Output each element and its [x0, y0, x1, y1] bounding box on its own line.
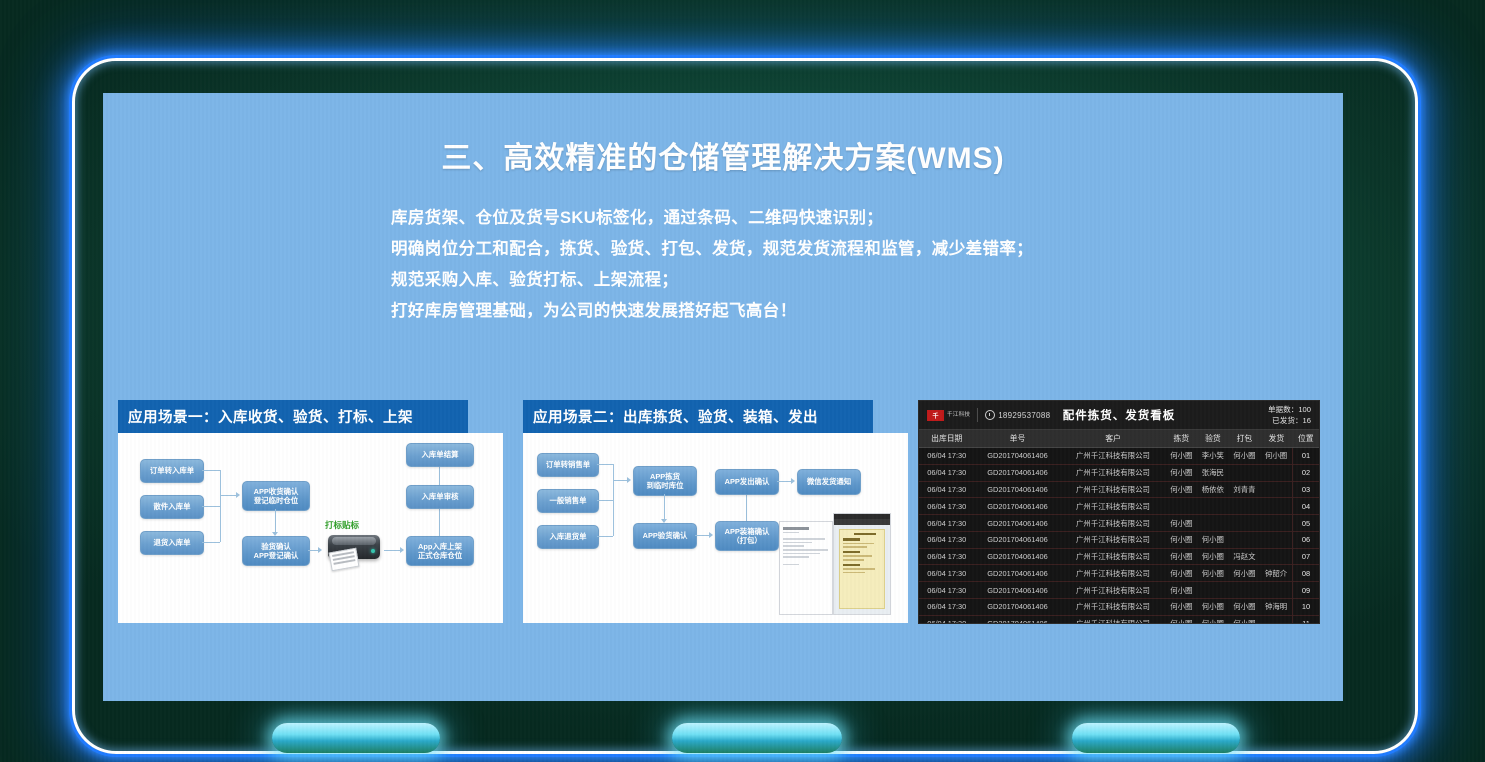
table-cell-date: 06/04 17:30	[919, 582, 975, 599]
table-cell-verify	[1197, 582, 1229, 599]
phone-screenshot-order	[833, 513, 891, 615]
table-cell-verify	[1197, 498, 1229, 515]
table-column-header: 位置	[1293, 430, 1320, 448]
table-cell-customer: 广州千江科技有限公司	[1060, 548, 1165, 565]
table-row[interactable]: 06/04 17:30GD201704061406广州千江科技有限公司何小圈杨依…	[919, 481, 1319, 498]
table-cell-order: GD201704061406	[975, 615, 1061, 624]
table-cell-pack: 何小圈	[1229, 565, 1261, 582]
flow-node-app-shelve: App入库上架 正式仓库仓位	[406, 536, 474, 566]
bullet-line-2: 明确岗位分工和配合，拣货、验货、打包、发货，规范发货流程和监管，减少差错率；	[391, 234, 1271, 265]
table-column-header: 发货	[1260, 430, 1292, 448]
table-cell-pick: 何小圈	[1166, 615, 1198, 624]
table-cell-pack: 何小圈	[1229, 599, 1261, 616]
flow-node-return-inbound: 退货入库单	[140, 531, 204, 555]
table-cell-pos: 06	[1293, 531, 1320, 548]
table-header-row: 出库日期单号客户拣货验货打包发货位置	[919, 430, 1319, 448]
table-cell-order: GD201704061406	[975, 498, 1061, 515]
table-cell-order: GD201704061406	[975, 481, 1061, 498]
flow-node-app-ship: APP发出确认	[715, 469, 779, 495]
bullet-line-4: 打好库房管理基础，为公司的快速发展搭好起飞高台！	[391, 296, 1271, 327]
table-cell-pos: 10	[1293, 599, 1320, 616]
table-cell-ship	[1260, 481, 1292, 498]
flow-node-loose-inbound: 散件入库单	[140, 495, 204, 519]
table-cell-date: 06/04 17:30	[919, 515, 975, 532]
table-row[interactable]: 06/04 17:30GD201704061406广州千江科技有限公司何小圈何小…	[919, 615, 1319, 624]
table-cell-verify: 李小笑	[1197, 448, 1229, 465]
table-cell-pick: 何小圈	[1166, 582, 1198, 599]
table-column-header: 验货	[1197, 430, 1229, 448]
table-cell-ship: 钟海明	[1260, 599, 1292, 616]
dashboard-header: 千 千江科技 18929537088 配件拣货、发货看板 单据数：100 已发货…	[919, 401, 1319, 430]
table-cell-date: 06/04 17:30	[919, 565, 975, 582]
table-column-header: 打包	[1229, 430, 1261, 448]
table-cell-ship	[1260, 531, 1292, 548]
table-cell-pick: 何小圈	[1166, 515, 1198, 532]
table-cell-ship	[1260, 582, 1292, 599]
table-cell-pack	[1229, 531, 1261, 548]
table-cell-pack	[1229, 582, 1261, 599]
table-cell-pick: 何小圈	[1166, 448, 1198, 465]
panel1-header: 应用场景一：入库收货、验货、打标、上架	[118, 400, 468, 433]
panel2-header: 应用场景二：出库拣货、验货、装箱、发出	[523, 400, 873, 433]
table-cell-pack: 冯赵文	[1229, 548, 1261, 565]
table-cell-pos: 01	[1293, 448, 1320, 465]
flow-node-verify-confirm: 验货确认 APP登记确认	[242, 536, 310, 566]
table-cell-order: GD201704061406	[975, 515, 1061, 532]
flow-node-app-pick: APP拣货 到临时库位	[633, 466, 697, 496]
table-column-header: 出库日期	[919, 430, 975, 448]
table-cell-pack: 刘青青	[1229, 481, 1261, 498]
table-cell-customer: 广州千江科技有限公司	[1060, 515, 1165, 532]
table-cell-customer: 广州千江科技有限公司	[1060, 565, 1165, 582]
table-row[interactable]: 06/04 17:30GD201704061406广州千江科技有限公司何小圈05	[919, 515, 1319, 532]
table-cell-pack: 何小圈	[1229, 615, 1261, 624]
table-cell-pick: 何小圈	[1166, 548, 1198, 565]
table-cell-verify: 何小圈	[1197, 565, 1229, 582]
table-row[interactable]: 06/04 17:30GD201704061406广州千江科技有限公司何小圈何小…	[919, 599, 1319, 616]
bullet-line-3: 规范采购入库、验货打标、上架流程；	[391, 265, 1271, 296]
table-cell-date: 06/04 17:30	[919, 599, 975, 616]
table-cell-pick: 何小圈	[1166, 565, 1198, 582]
table-cell-customer: 广州千江科技有限公司	[1060, 599, 1165, 616]
table-row[interactable]: 06/04 17:30GD201704061406广州千江科技有限公司何小圈何小…	[919, 531, 1319, 548]
table-cell-date: 06/04 17:30	[919, 548, 975, 565]
table-cell-ship	[1260, 615, 1292, 624]
table-cell-order: GD201704061406	[975, 531, 1061, 548]
table-column-header: 拣货	[1166, 430, 1198, 448]
table-cell-ship	[1260, 464, 1292, 481]
table-column-header: 客户	[1060, 430, 1165, 448]
table-cell-pack: 何小圈	[1229, 448, 1261, 465]
flow-node-inbound-return: 入库退货单	[537, 525, 599, 549]
table-cell-verify: 何小圈	[1197, 599, 1229, 616]
neon-pill-2	[672, 723, 842, 753]
dashboard-title: 配件拣货、发货看板	[919, 407, 1319, 423]
flow-node-order-to-sales: 订单转销售单	[537, 453, 599, 477]
table-cell-pos: 05	[1293, 515, 1320, 532]
table-cell-customer: 广州千江科技有限公司	[1060, 615, 1165, 624]
slide: 三、高效精准的仓储管理解决方案(WMS) 库房货架、仓位及货号SKU标签化，通过…	[103, 93, 1343, 701]
table-cell-pos: 04	[1293, 498, 1320, 515]
table-column-header: 单号	[975, 430, 1061, 448]
stat-shipped: 已发货：16	[1268, 415, 1311, 426]
table-cell-order: GD201704061406	[975, 464, 1061, 481]
table-cell-order: GD201704061406	[975, 599, 1061, 616]
table-cell-customer: 广州千江科技有限公司	[1060, 464, 1165, 481]
table-cell-customer: 广州千江科技有限公司	[1060, 582, 1165, 599]
table-cell-pos: 07	[1293, 548, 1320, 565]
table-cell-customer: 广州千江科技有限公司	[1060, 498, 1165, 515]
table-cell-pick: 何小圈	[1166, 599, 1198, 616]
table-cell-verify: 何小圈	[1197, 615, 1229, 624]
panel2-diagram: 订单转销售单 一般销售单 入库退货单 APP拣货 到临时库位 APP验货确认 A…	[523, 433, 908, 623]
table-cell-order: GD201704061406	[975, 548, 1061, 565]
table-cell-verify: 何小圈	[1197, 531, 1229, 548]
neon-pill-3	[1072, 723, 1240, 753]
table-cell-pick: 何小圈	[1166, 481, 1198, 498]
table-cell-date: 06/04 17:30	[919, 615, 975, 624]
flow-node-app-verify: APP验货确认	[633, 523, 697, 549]
table-row[interactable]: 06/04 17:30GD201704061406广州千江科技有限公司04	[919, 498, 1319, 515]
printer-icon	[326, 533, 382, 567]
table-cell-customer: 广州千江科技有限公司	[1060, 448, 1165, 465]
phone-screenshot-message	[779, 521, 833, 615]
table-cell-pos: 11	[1293, 615, 1320, 624]
dashboard: 千 千江科技 18929537088 配件拣货、发货看板 单据数：100 已发货…	[918, 400, 1320, 624]
table-row[interactable]: 06/04 17:30GD201704061406广州千江科技有限公司何小圈张海…	[919, 464, 1319, 481]
shipping-dashboard-panel: 千 千江科技 18929537088 配件拣货、发货看板 单据数：100 已发货…	[918, 400, 1318, 624]
table-cell-date: 06/04 17:30	[919, 464, 975, 481]
scenario-panel-inbound: 应用场景一：入库收货、验货、打标、上架 订单转入库单 散件入库单 退货入库单 A…	[118, 400, 503, 623]
table-row[interactable]: 06/04 17:30GD201704061406广州千江科技有限公司何小圈李小…	[919, 448, 1319, 465]
table-row[interactable]: 06/04 17:30GD201704061406广州千江科技有限公司何小圈何小…	[919, 548, 1319, 565]
table-cell-ship	[1260, 498, 1292, 515]
table-cell-order: GD201704061406	[975, 565, 1061, 582]
table-cell-pos: 08	[1293, 565, 1320, 582]
table-cell-pick: 何小圈	[1166, 464, 1198, 481]
table-row[interactable]: 06/04 17:30GD201704061406广州千江科技有限公司何小圈09	[919, 582, 1319, 599]
shipping-table: 出库日期单号客户拣货验货打包发货位置 06/04 17:30GD20170406…	[919, 430, 1319, 624]
table-cell-pick: 何小圈	[1166, 531, 1198, 548]
table-cell-pos: 03	[1293, 481, 1320, 498]
flow-node-order-to-inbound: 订单转入库单	[140, 459, 204, 483]
slide-bullets: 库房货架、仓位及货号SKU标签化，通过条码、二维码快速识别； 明确岗位分工和配合…	[391, 203, 1271, 327]
stat-total-orders: 单据数：100	[1268, 404, 1311, 415]
table-body: 06/04 17:30GD201704061406广州千江科技有限公司何小圈李小…	[919, 448, 1319, 625]
flow-node-app-receive: APP收货确认 登记临时仓位	[242, 481, 310, 511]
table-cell-verify: 何小圈	[1197, 548, 1229, 565]
table-cell-customer: 广州千江科技有限公司	[1060, 481, 1165, 498]
table-cell-pack	[1229, 464, 1261, 481]
flow-node-general-sales: 一般销售单	[537, 489, 599, 513]
table-cell-customer: 广州千江科技有限公司	[1060, 531, 1165, 548]
table-cell-pos: 09	[1293, 582, 1320, 599]
table-cell-ship	[1260, 548, 1292, 565]
bullet-line-1: 库房货架、仓位及货号SKU标签化，通过条码、二维码快速识别；	[391, 203, 1271, 234]
table-cell-date: 06/04 17:30	[919, 448, 975, 465]
label-print-tag: 打标贴标	[325, 519, 359, 531]
flow-node-wechat-notify: 微信发货通知	[797, 469, 861, 495]
table-cell-pick	[1166, 498, 1198, 515]
panel1-diagram: 订单转入库单 散件入库单 退货入库单 APP收货确认 登记临时仓位 验货确认 A…	[118, 433, 503, 623]
table-cell-verify	[1197, 515, 1229, 532]
table-cell-verify: 张海民	[1197, 464, 1229, 481]
table-cell-pos: 02	[1293, 464, 1320, 481]
table-cell-order: GD201704061406	[975, 448, 1061, 465]
dashboard-stats: 单据数：100 已发货：16	[1268, 404, 1311, 426]
table-cell-ship: 何小圈	[1260, 448, 1292, 465]
table-cell-ship: 钟韶介	[1260, 565, 1292, 582]
table-row[interactable]: 06/04 17:30GD201704061406广州千江科技有限公司何小圈何小…	[919, 565, 1319, 582]
flow-node-inbound-audit: 入库单审核	[406, 485, 474, 509]
table-cell-pack	[1229, 515, 1261, 532]
table-cell-verify: 杨依依	[1197, 481, 1229, 498]
table-cell-ship	[1260, 515, 1292, 532]
neon-pill-1	[272, 723, 440, 753]
flow-node-app-pack: APP装箱确认 （打包）	[715, 521, 779, 551]
scenario-panel-outbound: 应用场景二：出库拣货、验货、装箱、发出 订单转销售单 一般销售单 入库退货单 A…	[523, 400, 908, 623]
page-title: 三、高效精准的仓储管理解决方案(WMS)	[103, 133, 1343, 177]
table-cell-date: 06/04 17:30	[919, 481, 975, 498]
flow-node-inbound-settle: 入库单结算	[406, 443, 474, 467]
table-cell-date: 06/04 17:30	[919, 531, 975, 548]
presentation-stage: 三、高效精准的仓储管理解决方案(WMS) 库房货架、仓位及货号SKU标签化，通过…	[0, 0, 1485, 762]
table-cell-order: GD201704061406	[975, 582, 1061, 599]
table-cell-pack	[1229, 498, 1261, 515]
table-cell-date: 06/04 17:30	[919, 498, 975, 515]
